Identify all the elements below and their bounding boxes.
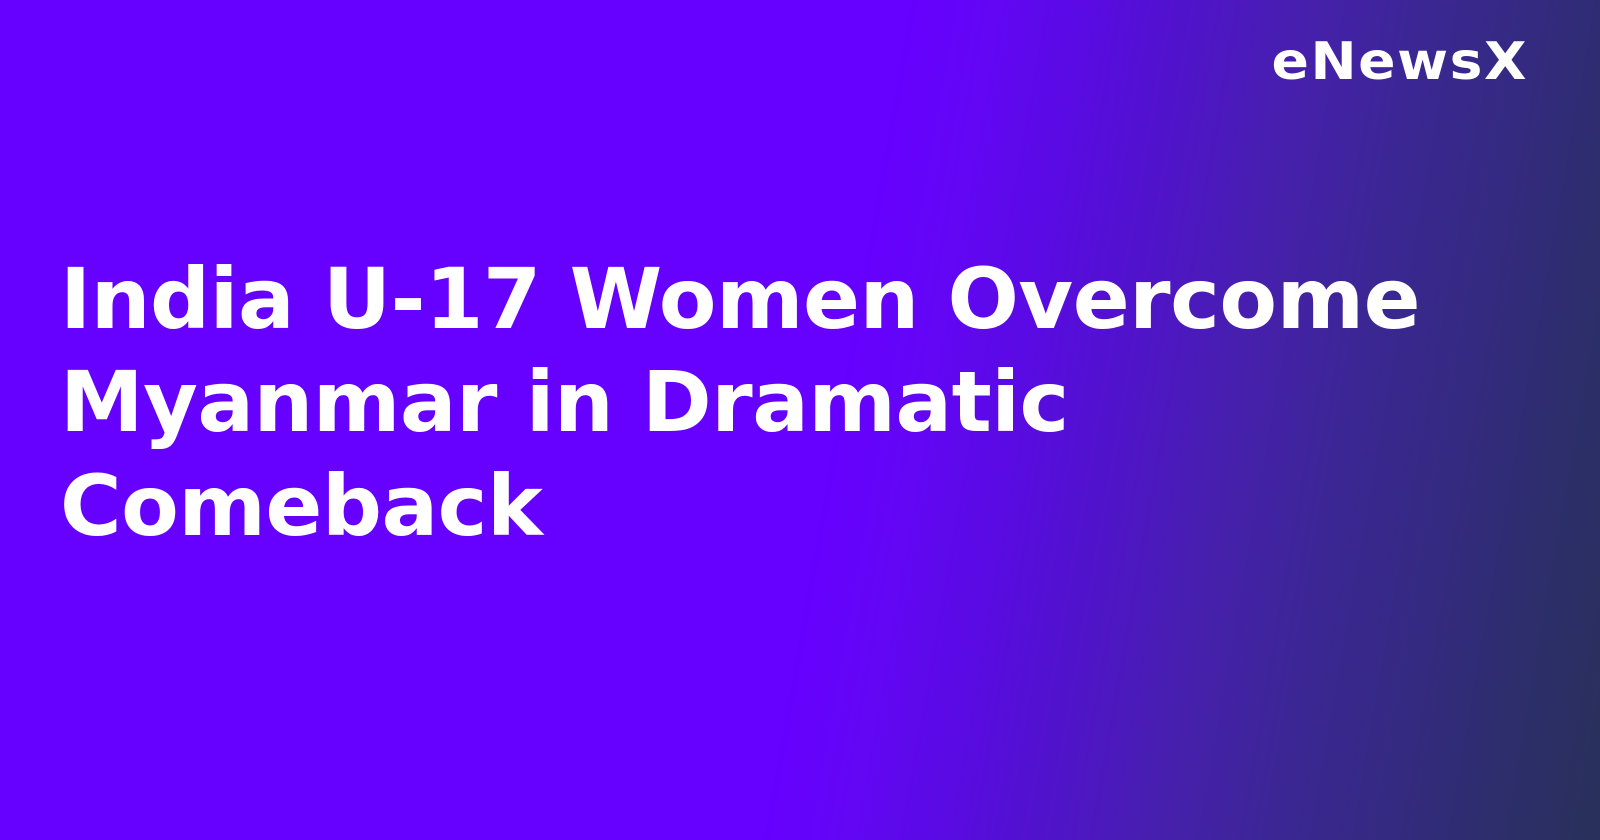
brand-wordmark-text: eNewsX [1271,36,1528,88]
news-banner-card: eNewsX India U-17 Women Overcome Myanmar… [0,0,1600,840]
headline-block: India U-17 Women Overcome Myanmar in Dra… [60,248,1460,558]
headline-text: India U-17 Women Overcome Myanmar in Dra… [60,248,1460,558]
brand-logo[interactable]: eNewsX [1286,36,1528,88]
